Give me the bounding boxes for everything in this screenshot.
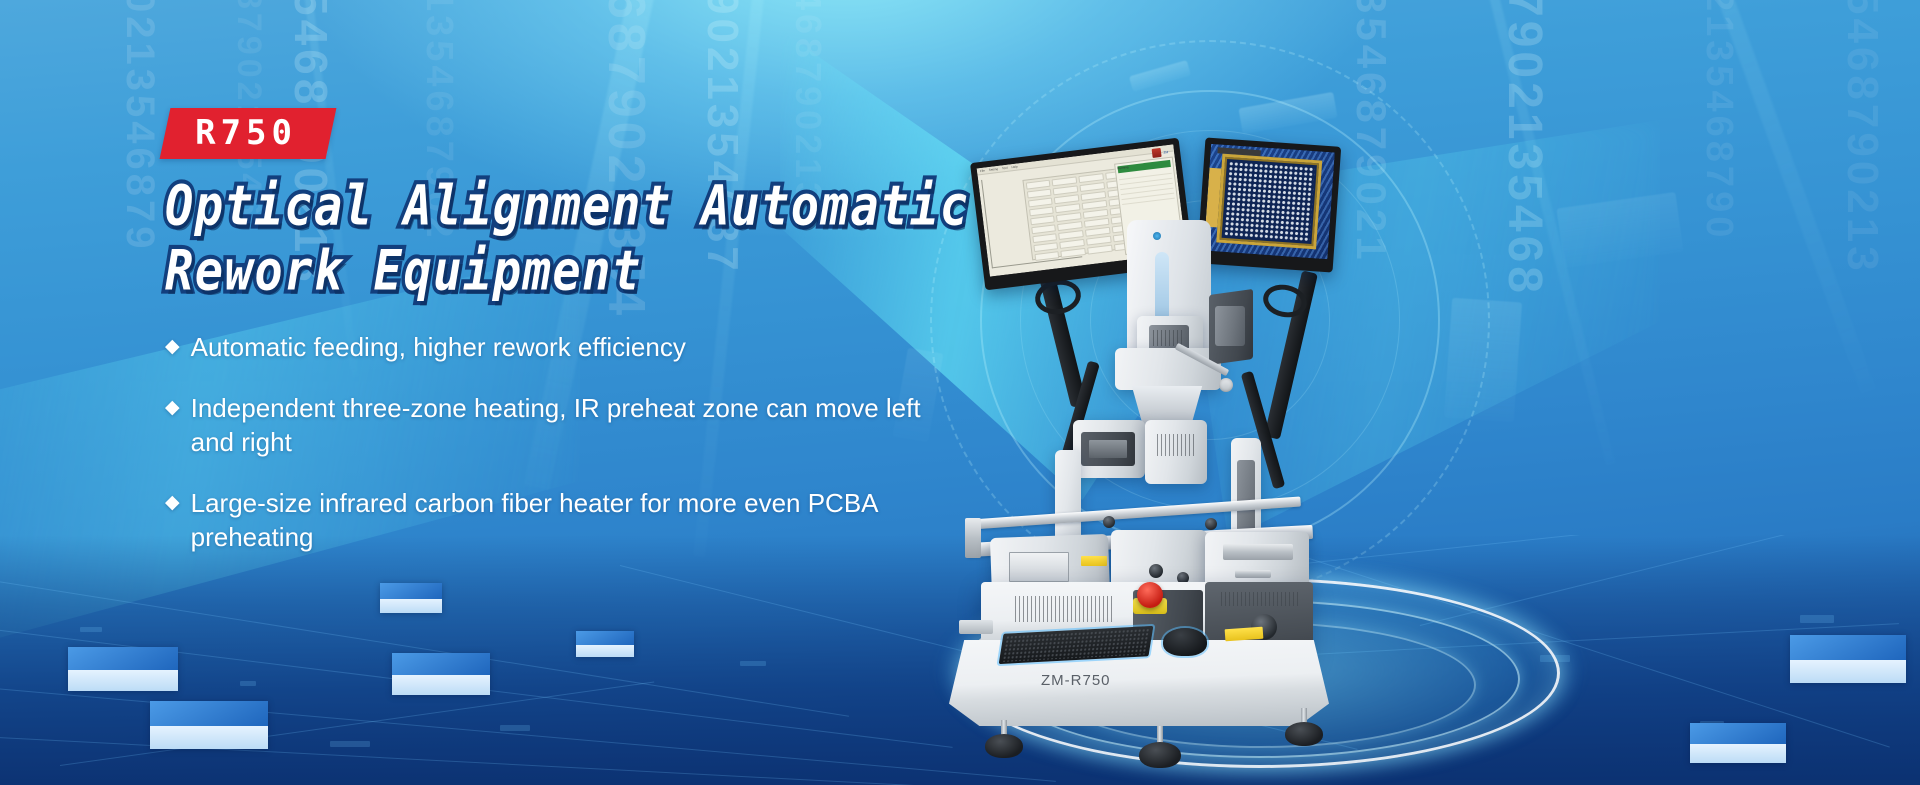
product-image-rework-machine: File Setting Tool Help ZM bbox=[905, 120, 1425, 740]
preheat-vents bbox=[1015, 596, 1115, 622]
warning-label bbox=[1081, 556, 1107, 566]
page-title: Optical Alignment Automatic Rework Equip… bbox=[165, 175, 985, 304]
right-monitor-screen[interactable] bbox=[1204, 144, 1335, 259]
feature-text: Independent three-zone heating, IR prehe… bbox=[191, 391, 951, 460]
cassette-tray bbox=[1089, 440, 1127, 458]
list-item: ◆ Independent three-zone heating, IR pre… bbox=[165, 391, 985, 460]
grid-cell[interactable] bbox=[1087, 245, 1112, 255]
model-badge: R750 bbox=[160, 108, 337, 159]
copy-block: R750 Optical Alignment Automatic Rework … bbox=[165, 108, 985, 581]
feature-text: Automatic feeding, higher rework efficie… bbox=[191, 330, 686, 365]
keyboard-keys bbox=[1002, 628, 1150, 662]
carriage-slide bbox=[1235, 570, 1271, 578]
product-nameplate: ZM-R750 bbox=[1041, 672, 1201, 689]
circuit-pad bbox=[80, 627, 102, 632]
menu-item-tool[interactable]: Tool bbox=[1002, 166, 1008, 171]
circuit-pad bbox=[330, 741, 370, 747]
circuit-pad bbox=[740, 661, 766, 666]
feature-list: ◆ Automatic feeding, higher rework effic… bbox=[165, 330, 985, 555]
chip-block bbox=[68, 647, 178, 691]
model-badge-label: R750 bbox=[195, 116, 297, 150]
bga-gold-frame bbox=[1217, 153, 1322, 250]
machine-foot bbox=[1285, 722, 1323, 746]
machine-foot bbox=[1139, 742, 1181, 768]
hud-block bbox=[1444, 298, 1522, 423]
carriage-plate bbox=[1223, 544, 1293, 560]
camera-lens-icon bbox=[1219, 378, 1233, 392]
menu-item-file[interactable]: File bbox=[980, 169, 985, 174]
chip-block bbox=[392, 653, 490, 695]
feeder-vents bbox=[1157, 434, 1197, 456]
product-banner: 0213546879 8790213546 5468790213 1354687… bbox=[0, 0, 1920, 785]
digit-stream: 0213546879 bbox=[120, 0, 160, 290]
circuit-pad bbox=[1540, 655, 1570, 662]
emergency-stop-button[interactable] bbox=[1137, 582, 1163, 608]
circuit-pad bbox=[240, 681, 256, 686]
chip-block bbox=[1790, 635, 1906, 683]
diamond-bullet-icon: ◆ bbox=[165, 330, 180, 363]
logo-company-text: ZM bbox=[1163, 150, 1168, 155]
hud-block bbox=[1556, 192, 1683, 268]
base-switch-panel[interactable] bbox=[959, 620, 993, 634]
rail-end-bracket bbox=[965, 518, 981, 558]
digit-stream: 7902135468 bbox=[1500, 0, 1548, 297]
adjust-knob bbox=[1149, 564, 1163, 578]
right-monitor[interactable] bbox=[1197, 137, 1341, 272]
mouse[interactable] bbox=[1163, 628, 1207, 656]
diamond-bullet-icon: ◆ bbox=[165, 486, 180, 519]
digit-stream: 5468790213 bbox=[1840, 0, 1884, 275]
circuit-trace bbox=[1420, 535, 1905, 626]
chip-block bbox=[150, 701, 268, 749]
tower-light-strip bbox=[1155, 252, 1169, 322]
list-item: ◆ Automatic feeding, higher rework effic… bbox=[165, 330, 985, 365]
menu-item-help[interactable]: Help bbox=[1011, 165, 1018, 170]
circuit-pad bbox=[1800, 615, 1834, 623]
menu-item-setting[interactable]: Setting bbox=[989, 167, 999, 172]
top-heater-housing bbox=[1115, 348, 1221, 390]
feeder-label-plate bbox=[1009, 552, 1069, 582]
digit-stream: 2135468790 bbox=[1700, 0, 1738, 241]
clamp-knob bbox=[1103, 516, 1115, 528]
clamp-knob bbox=[1205, 518, 1217, 530]
machine-foot bbox=[985, 734, 1023, 758]
right-module-panel bbox=[1215, 306, 1245, 346]
list-item: ◆ Large-size infrared carbon fiber heate… bbox=[165, 486, 985, 555]
hud-block bbox=[1129, 60, 1191, 92]
circuit-pad bbox=[500, 725, 530, 731]
indicator-light bbox=[1153, 232, 1161, 240]
bga-microscope-view[interactable] bbox=[1204, 144, 1335, 259]
chip-block bbox=[1690, 723, 1786, 763]
solder-ball-array bbox=[1224, 161, 1314, 243]
chip-block bbox=[576, 631, 634, 657]
diamond-bullet-icon: ◆ bbox=[165, 391, 180, 424]
feature-text: Large-size infrared carbon fiber heater … bbox=[191, 486, 951, 555]
logo-mark-icon bbox=[1152, 148, 1162, 158]
electronics-vents bbox=[1221, 592, 1301, 606]
chip-block bbox=[380, 583, 442, 613]
